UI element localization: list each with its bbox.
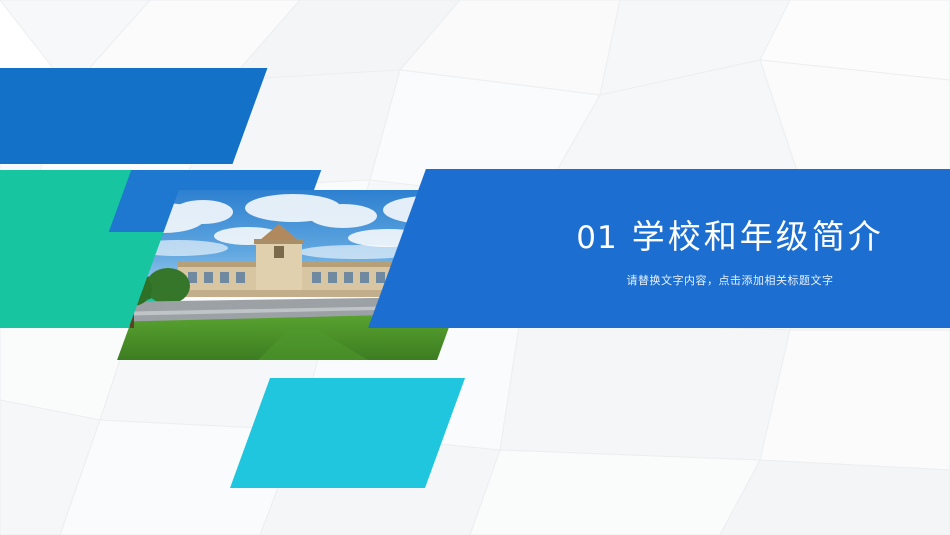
presentation-slide: 01学校和年级简介 请替换文字内容，点击添加相关标题文字: [0, 0, 950, 535]
section-heading: 01学校和年级简介: [520, 210, 940, 258]
section-subtitle: 请替换文字内容，点击添加相关标题文字: [520, 272, 940, 288]
section-title: 学校和年级简介: [632, 217, 884, 256]
decorative-shape-blue-top: [0, 68, 267, 164]
title-block: 01学校和年级简介 请替换文字内容，点击添加相关标题文字: [520, 210, 940, 288]
section-number: 01: [576, 220, 617, 256]
decorative-shape-cyan: [230, 378, 465, 488]
